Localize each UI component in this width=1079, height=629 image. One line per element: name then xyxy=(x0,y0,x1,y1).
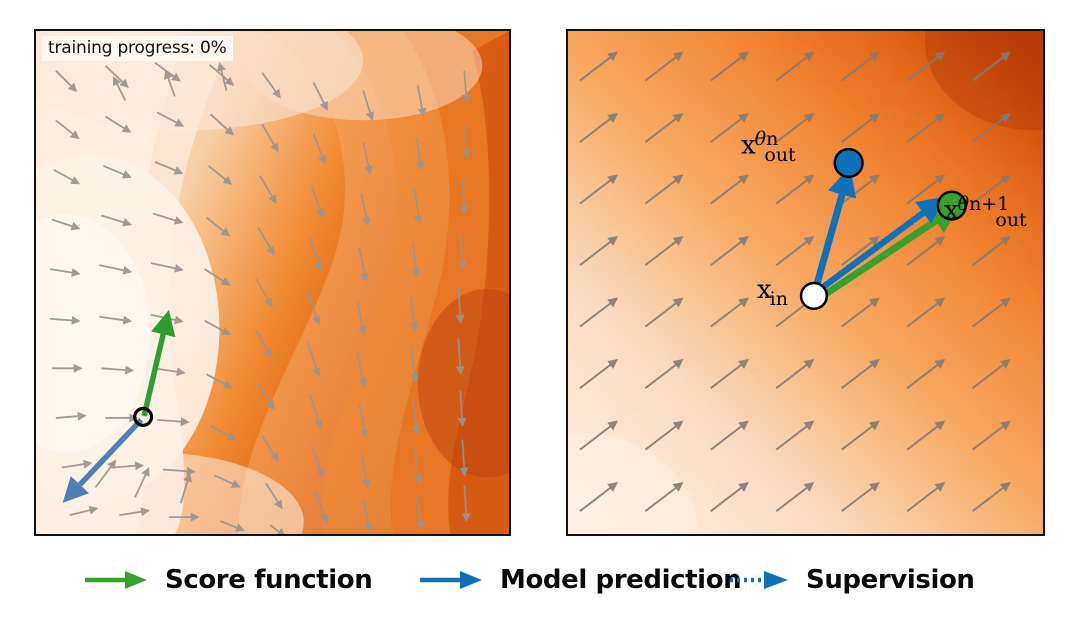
x-out-n-base: x xyxy=(741,130,756,160)
legend-label-score-function: Score function xyxy=(165,565,372,595)
detail-panel xyxy=(566,29,1045,536)
score-function-legend-arrow-icon xyxy=(83,567,151,593)
training-progress-label: training progress: 0% xyxy=(42,36,233,61)
x-out-theta-n-label: xθnout xyxy=(741,132,811,162)
right-panel-canvas xyxy=(568,31,1043,534)
score-field-panel: training progress: 0% xyxy=(34,29,511,536)
legend-label-model-prediction: Model prediction xyxy=(500,565,741,595)
x-in-label: xin xyxy=(757,277,790,306)
legend-label-supervision: Supervision xyxy=(806,565,975,595)
x-out-theta-n1-label: xθn+1out xyxy=(944,197,1042,227)
x-in-subscript: in xyxy=(770,288,788,310)
legend-item-score-function: Score function xyxy=(83,560,372,600)
x-out-n1-base: x xyxy=(944,195,959,225)
figure-root: training progress: 0% xyxy=(0,0,1079,629)
legend-item-model-prediction: Model prediction xyxy=(418,560,741,600)
legend-item-supervision: Supervision xyxy=(728,560,975,600)
x-in-marker xyxy=(801,283,827,309)
supervision-legend-arrow-icon xyxy=(728,567,792,593)
legend: Score function Model prediction Supervis… xyxy=(0,552,1079,612)
x-out-theta-n-marker xyxy=(835,149,863,177)
model-prediction-legend-arrow-icon xyxy=(418,567,486,593)
x-out-n1-subscript: out xyxy=(995,209,1026,231)
x-out-n-subscript: out xyxy=(764,144,795,166)
left-panel-canvas xyxy=(36,31,509,534)
